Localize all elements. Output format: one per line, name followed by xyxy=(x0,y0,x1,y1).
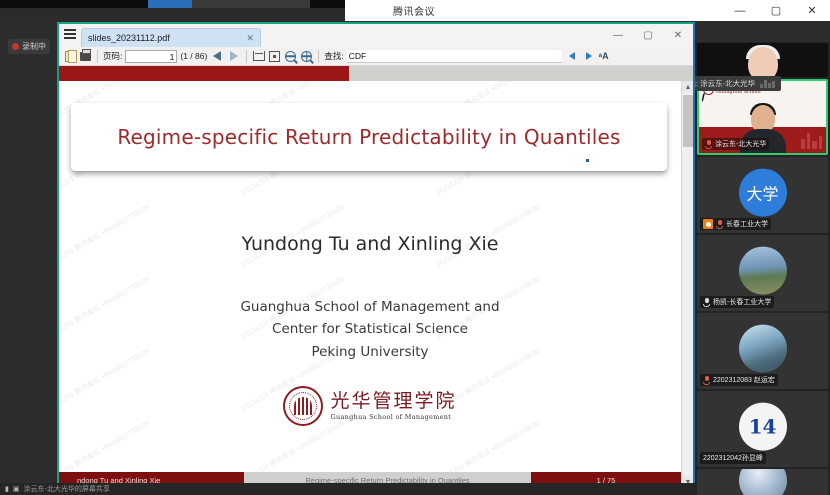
speaking-indicator: 正在讲话: 涂云东-北大光华 xyxy=(695,76,781,91)
participant-name-chip: 杨凯-长春工业大学 xyxy=(700,296,774,308)
pdf-progress-fill xyxy=(59,66,349,81)
participant-tile-3[interactable]: 杨凯-长春工业大学 xyxy=(697,235,828,311)
match-case-icon[interactable]: ᵃA xyxy=(599,51,609,61)
meeting-title-bar: 腾讯会议 — ▢ ✕ xyxy=(345,0,830,21)
microphone-icon xyxy=(705,140,712,149)
affiliation-line-2: Center for Statistical Science xyxy=(59,318,681,340)
find-label: 查找: xyxy=(324,50,343,62)
zoom-out-icon[interactable] xyxy=(284,49,297,63)
peking-university-seal-icon xyxy=(283,386,323,426)
page-total-label: (1 / 86) xyxy=(180,51,207,61)
pdf-viewer-window: slides_20231112.pdf ✕ — ▢ ✕ 页码: xyxy=(59,24,693,488)
meeting-body: 录制中 slides_20231112.pdf ✕ — ▢ ✕ xyxy=(0,21,830,495)
logo-text-block: 光华管理学院 Guanghua School of Management xyxy=(330,392,456,421)
camera-icon: ▣ xyxy=(13,485,20,493)
participant-name: 2202312083 赵运宏 xyxy=(713,375,775,385)
participant-name-chip: 涂云东-北大光华 xyxy=(702,138,769,150)
participant-tile-6[interactable] xyxy=(697,469,828,495)
pdf-scrollbar[interactable]: ▲ ▼ xyxy=(681,81,693,488)
participant-name: 杨凯-长春工业大学 xyxy=(713,297,771,307)
meeting-window-controls: — ▢ ✕ xyxy=(722,0,830,21)
screen-root: 腾讯会议 — ▢ ✕ 录制中 slides_20231112.pdf ✕ xyxy=(0,0,830,495)
participant-rail[interactable]: 正在讲话: 涂云东-北大光华 光华管理学院Guanghua School xyxy=(695,42,830,495)
skyline-icon xyxy=(801,133,822,149)
pdf-tab-close-icon[interactable]: ✕ xyxy=(244,33,256,44)
participant-name: 长春工业大学 xyxy=(726,219,768,229)
menu-hamburger-icon[interactable] xyxy=(59,24,81,47)
slide-authors: Yundong Tu and Xinling Xie xyxy=(59,233,681,255)
avatar: 14 xyxy=(739,403,787,451)
pdf-minimize-button[interactable]: — xyxy=(603,24,633,47)
avatar: 大学 xyxy=(739,169,787,217)
pdf-tab-title: slides_20231112.pdf xyxy=(88,33,170,43)
print-icon[interactable] xyxy=(79,49,92,63)
pdf-toolbar: 页码: 1 (1 / 86) 查找: CDF ᵃA xyxy=(59,47,693,66)
scrollbar-up-arrow-icon[interactable]: ▲ xyxy=(682,81,693,93)
microphone-icon xyxy=(703,298,710,307)
copy-icon[interactable] xyxy=(63,49,76,63)
page-number-input[interactable]: 1 xyxy=(125,50,177,63)
toolbar-separator-3 xyxy=(318,50,319,63)
guanghua-logo: 光华管理学院 Guanghua School of Management xyxy=(59,386,681,426)
recording-dot-icon xyxy=(12,43,19,50)
affiliation-line-3: Peking University xyxy=(59,341,681,363)
avatar xyxy=(739,247,787,295)
recording-badge[interactable]: 录制中 xyxy=(8,39,50,54)
taskbar-active-item[interactable] xyxy=(148,0,192,8)
prev-page-icon[interactable] xyxy=(210,49,224,63)
zoom-in-icon[interactable] xyxy=(300,49,313,63)
participant-tile-host[interactable]: 大学 长春工业大学 xyxy=(697,157,828,233)
find-input[interactable]: CDF xyxy=(347,50,562,63)
meeting-footer-label: 涂云东-北大光华的屏幕共享 xyxy=(23,484,109,494)
scrollbar-thumb[interactable] xyxy=(683,95,693,147)
fit-page-icon[interactable] xyxy=(268,49,281,63)
pdf-close-button[interactable]: ✕ xyxy=(663,24,693,47)
avatar-face-shape xyxy=(748,47,778,77)
host-badge-icon xyxy=(703,219,713,229)
logo-chinese-name: 光华管理学院 xyxy=(330,392,456,411)
share-screen-icon: ▮ xyxy=(5,485,9,493)
slide-content: Regime-specific Return Predictability in… xyxy=(59,81,681,472)
find-prev-icon[interactable] xyxy=(565,49,579,63)
participant-name-chip: 长春工业大学 xyxy=(700,218,771,230)
pdf-tab[interactable]: slides_20231112.pdf ✕ xyxy=(81,28,261,47)
pdf-maximize-button[interactable]: ▢ xyxy=(633,24,663,47)
avatar xyxy=(739,469,787,495)
pdf-window-controls: — ▢ ✕ xyxy=(603,24,693,47)
slide-title-dot-icon xyxy=(586,159,589,162)
logo-english-name: Guanghua School of Management xyxy=(330,413,456,421)
recording-label: 录制中 xyxy=(22,41,46,52)
meeting-close-button[interactable]: ✕ xyxy=(794,0,830,21)
avatar xyxy=(739,325,787,373)
microphone-icon xyxy=(703,376,710,385)
participant-name-chip: 2202312042孙显峰 xyxy=(700,452,766,464)
toolbar-separator-2 xyxy=(246,50,247,63)
participant-tile-0[interactable] xyxy=(697,43,828,77)
participant-name: 涂云东-北大光华 xyxy=(715,139,766,149)
slide-title-box: Regime-specific Return Predictability in… xyxy=(71,103,667,171)
toolbar-separator xyxy=(97,50,98,63)
slide-title: Regime-specific Return Predictability in… xyxy=(117,125,620,149)
audio-wave-icon xyxy=(760,79,776,88)
pdf-page-canvas[interactable]: 20231201 腾讯会议 +861881273362620231201 腾讯会… xyxy=(59,81,681,472)
meeting-minimize-button[interactable]: — xyxy=(722,0,758,21)
meeting-title-label: 腾讯会议 xyxy=(393,3,435,18)
pdf-title-bar: slides_20231112.pdf ✕ — ▢ ✕ xyxy=(59,24,693,47)
speaking-label: 正在讲话: 涂云东-北大光华 xyxy=(695,78,755,89)
page-number-label: 页码: xyxy=(103,50,122,62)
participant-tile-5[interactable]: 14 2202312042孙显峰 xyxy=(697,391,828,467)
meeting-maximize-button[interactable]: ▢ xyxy=(758,0,794,21)
participant-tile-4[interactable]: 2202312083 赵运宏 xyxy=(697,313,828,389)
find-next-icon[interactable] xyxy=(582,49,596,63)
participant-name: 2202312042孙显峰 xyxy=(703,453,763,463)
microphone-icon xyxy=(716,220,723,229)
next-page-icon[interactable] xyxy=(227,49,241,63)
slide-affiliation: Guanghua School of Management and Center… xyxy=(59,296,681,363)
shared-screen-region: slides_20231112.pdf ✕ — ▢ ✕ 页码: xyxy=(57,22,695,490)
taskbar-item[interactable] xyxy=(192,0,310,8)
affiliation-line-1: Guanghua School of Management and xyxy=(59,296,681,318)
fit-width-icon[interactable] xyxy=(252,49,265,63)
participant-name-chip: 2202312083 赵运宏 xyxy=(700,374,778,386)
pdf-progress-bar xyxy=(59,66,693,81)
pdf-content-area: 20231201 腾讯会议 +861881273362620231201 腾讯会… xyxy=(59,66,693,488)
